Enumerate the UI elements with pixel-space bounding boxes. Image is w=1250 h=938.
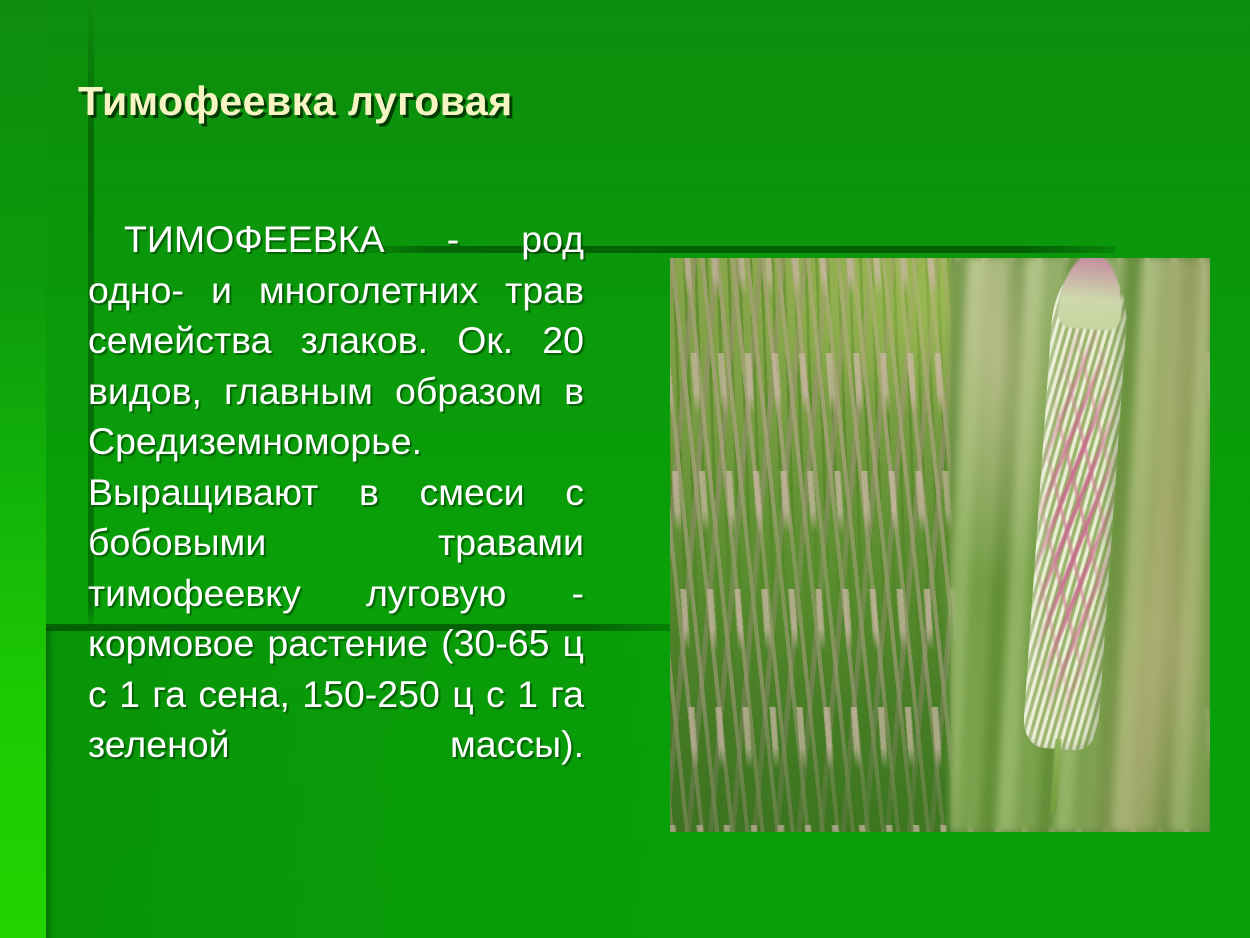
presentation-slide: Тимофеевка луговая ТИМОФЕЕВКА - род одно… (0, 0, 1250, 938)
photo-inner (670, 258, 1210, 832)
lower-panel-left-edge (46, 628, 54, 938)
plant-photo (670, 258, 1210, 832)
slide-body-text: ТИМОФЕЕВКА - род одно- и многолетних тра… (88, 214, 584, 820)
left-accent-strip (0, 0, 46, 938)
slide-title: Тимофеевка луговая (78, 78, 513, 125)
timothy-spike-closeup (1018, 268, 1130, 806)
